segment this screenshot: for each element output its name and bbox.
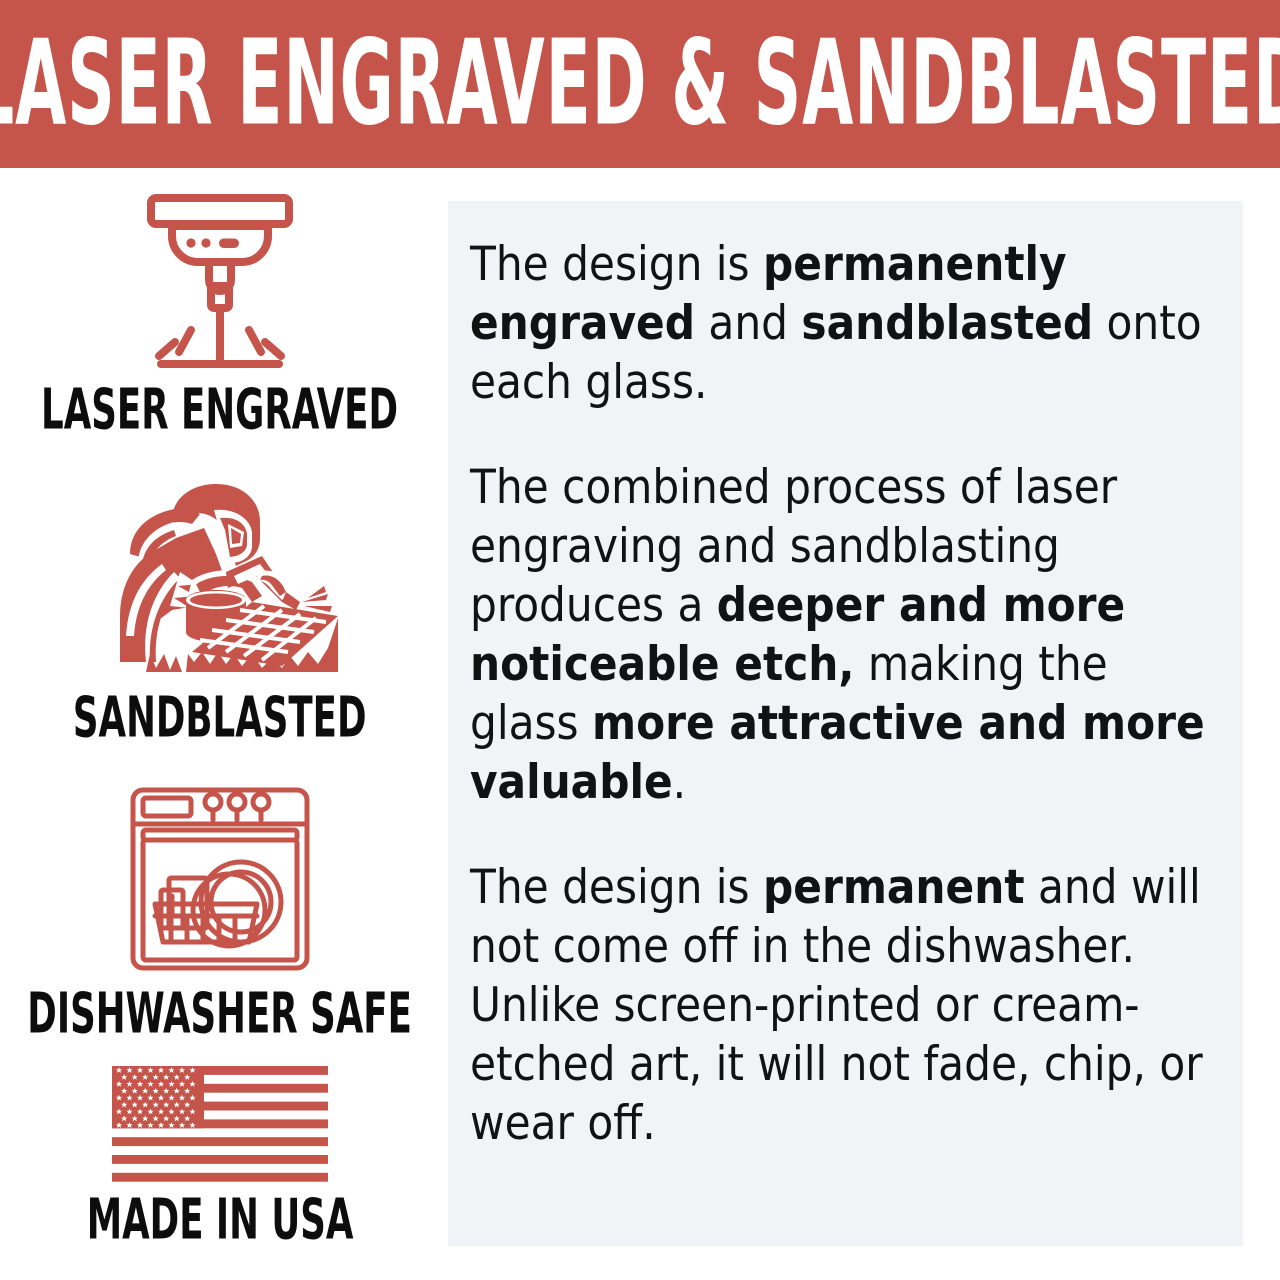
paragraph-combined-process: The combined process of laser engraving … <box>470 458 1213 812</box>
feature-label-laser-engraved: LASER ENGRAVED <box>42 381 399 437</box>
description-panel: The design is permanently engraved and s… <box>448 201 1243 1246</box>
sandblaster-worker-icon <box>76 476 364 676</box>
usa-flag-icon <box>112 1066 328 1182</box>
feature-list: LASER ENGRAVED <box>0 176 440 1280</box>
feature-dishwasher-safe: DISHWASHER SAFE <box>0 784 440 1036</box>
paragraph-permanently-engraved: The design is permanently engraved and s… <box>470 235 1213 412</box>
header-banner: LASER ENGRAVED & SANDBLASTED <box>0 0 1280 168</box>
paragraph-permanent-dishwasher: The design is permanent and will not com… <box>470 858 1213 1153</box>
feature-label-dishwasher-safe: DISHWASHER SAFE <box>28 985 413 1041</box>
infographic-page: LASER ENGRAVED & SANDBLASTED <box>0 0 1280 1280</box>
feature-label-made-in-usa: MADE IN USA <box>87 1191 354 1247</box>
dishwasher-icon <box>125 784 315 974</box>
feature-made-in-usa: MADE IN USA <box>0 1066 440 1242</box>
laser-engraver-icon <box>125 190 315 370</box>
page-title: LASER ENGRAVED & SANDBLASTED <box>0 25 1280 143</box>
feature-label-sandblasted: SANDBLASTED <box>73 689 367 745</box>
feature-laser-engraved: LASER ENGRAVED <box>0 190 440 432</box>
feature-sandblasted: SANDBLASTED <box>0 476 440 740</box>
